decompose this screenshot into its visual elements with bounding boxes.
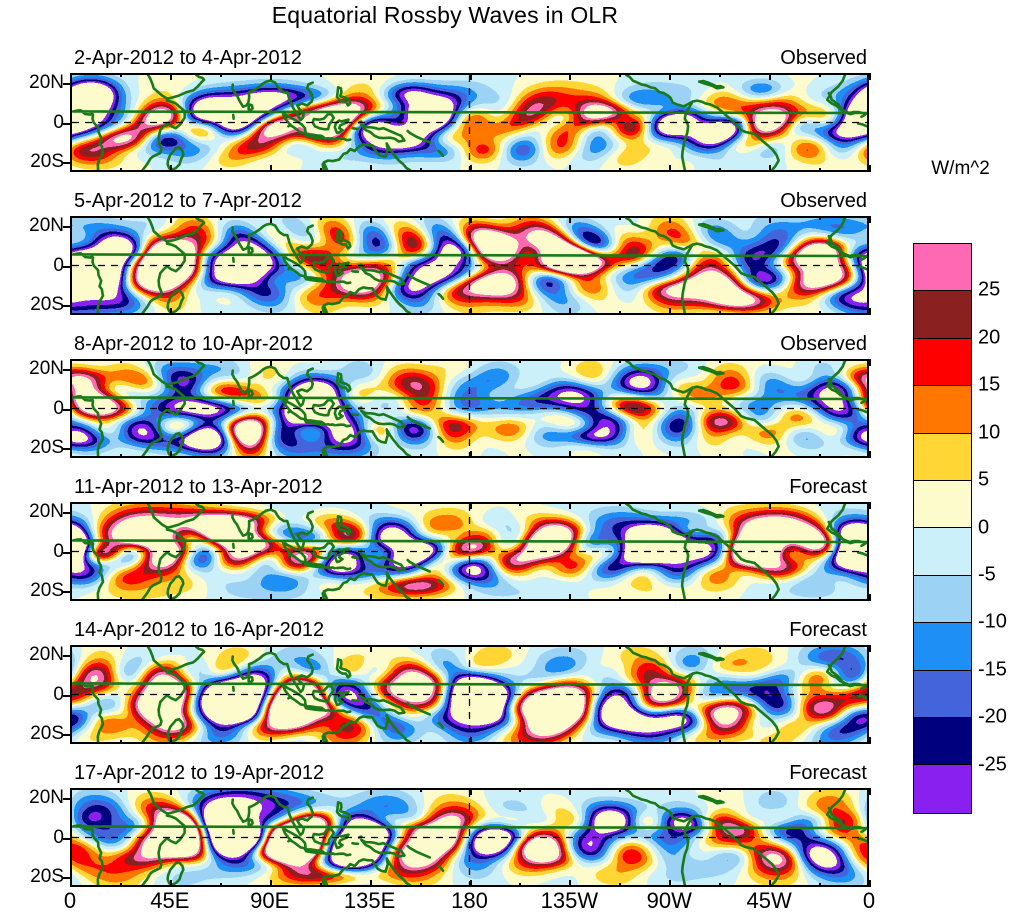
x-tick-mark xyxy=(519,216,521,220)
x-tick-mark xyxy=(70,216,72,223)
x-tick-mark xyxy=(719,359,721,363)
y-tick-mark xyxy=(63,877,70,879)
colorbar-band-8 xyxy=(914,576,971,623)
y-tick-label-p6-20S: 20S xyxy=(30,866,64,888)
x-tick-mark xyxy=(70,165,72,172)
panel-date-range-3: 8-Apr-2012 to 10-Apr-2012 xyxy=(74,333,313,356)
x-tick-mark xyxy=(619,597,621,601)
x-tick-mark xyxy=(370,788,372,795)
colorbar-band-3 xyxy=(914,339,971,386)
x-tick-mark xyxy=(669,451,671,458)
x-tick-mark xyxy=(719,311,721,315)
map-panel-4 xyxy=(70,502,869,601)
x-tick-mark xyxy=(719,73,721,77)
x-tick-mark xyxy=(470,594,472,601)
y-tick-mark xyxy=(63,512,70,514)
x-tick-mark xyxy=(470,737,472,744)
x-tick-mark xyxy=(569,216,571,223)
colorbar-band-9 xyxy=(914,623,971,670)
x-tick-mark xyxy=(470,359,472,366)
x-tick-mark xyxy=(120,645,122,649)
x-tick-mark xyxy=(170,645,172,652)
x-tick-mark xyxy=(370,880,372,887)
x-tick-mark xyxy=(519,359,521,363)
colorbar-band-4 xyxy=(914,386,971,433)
panel-date-range-2: 5-Apr-2012 to 7-Apr-2012 xyxy=(74,190,302,213)
panel-field-6 xyxy=(72,790,867,885)
x-tick-mark xyxy=(819,359,821,363)
x-tick-mark xyxy=(320,645,322,649)
x-tick-mark xyxy=(70,788,72,795)
y-tick-label-p4-20S: 20S xyxy=(30,580,64,602)
panel-header-4: 11-Apr-2012 to 13-Apr-2012Forecast xyxy=(70,476,869,500)
y-tick-mark xyxy=(63,591,70,593)
x-tick-mark xyxy=(869,737,871,744)
x-tick-mark xyxy=(370,359,372,366)
colorbar-tick--15: -15 xyxy=(978,658,1007,681)
x-tick-mark xyxy=(120,883,122,887)
x-tick-mark xyxy=(70,359,72,366)
panel-header-5: 14-Apr-2012 to 16-Apr-2012Forecast xyxy=(70,619,869,643)
x-tick-mark xyxy=(519,883,521,887)
y-tick-mark xyxy=(63,798,70,800)
x-tick-mark xyxy=(70,594,72,601)
panel-date-range-5: 14-Apr-2012 to 16-Apr-2012 xyxy=(74,619,324,642)
x-tick-mark xyxy=(420,645,422,649)
x-tick-mark xyxy=(270,880,272,887)
x-tick-mark xyxy=(320,502,322,506)
x-tick-mark xyxy=(70,880,72,887)
x-tick-mark xyxy=(519,788,521,792)
x-tick-mark xyxy=(320,216,322,220)
x-tick-mark xyxy=(819,216,821,220)
y-tick-label-p3-20N: 20N xyxy=(29,358,64,380)
x-tick-mark xyxy=(569,645,571,652)
x-tick-mark xyxy=(420,359,422,363)
y-tick-mark xyxy=(63,266,70,268)
panel-date-range-4: 11-Apr-2012 to 13-Apr-2012 xyxy=(74,476,323,499)
x-tick-mark xyxy=(270,645,272,652)
x-tick-mark xyxy=(470,880,472,887)
x-tick-mark xyxy=(170,308,172,315)
x-tick-mark xyxy=(320,740,322,744)
y-tick-label-p6-20N: 20N xyxy=(29,787,64,809)
x-tick-mark xyxy=(519,311,521,315)
colorbar-band-7 xyxy=(914,528,971,575)
x-tick-mark xyxy=(70,308,72,315)
x-tick-mark xyxy=(769,788,771,795)
x-tick-mark xyxy=(869,359,871,366)
colorbar-band-11 xyxy=(914,718,971,765)
x-tick-mark xyxy=(719,597,721,601)
panel-header-6: 17-Apr-2012 to 19-Apr-2012Forecast xyxy=(70,762,869,786)
x-tick-mark xyxy=(220,788,222,792)
x-tick-mark xyxy=(769,165,771,172)
y-tick-mark xyxy=(63,369,70,371)
colorbar-band-2 xyxy=(914,291,971,338)
x-tick-label-135W: 135W xyxy=(541,888,598,914)
x-tick-mark xyxy=(170,788,172,795)
colorbar xyxy=(913,243,972,814)
x-tick-mark xyxy=(819,645,821,649)
y-tick-label-p1-20S: 20S xyxy=(30,151,64,173)
x-tick-mark xyxy=(819,740,821,744)
x-tick-mark xyxy=(519,73,521,77)
x-tick-mark xyxy=(120,311,122,315)
panel-header-2: 5-Apr-2012 to 7-Apr-2012Observed xyxy=(70,190,869,214)
map-panel-1 xyxy=(70,73,869,172)
x-tick-mark xyxy=(769,451,771,458)
x-tick-mark xyxy=(370,451,372,458)
y-tick-label-p4-20N: 20N xyxy=(29,501,64,523)
y-tick-mark xyxy=(63,655,70,657)
colorbar-band-10 xyxy=(914,671,971,718)
colorbar-tick-20: 20 xyxy=(978,326,1000,349)
panel-kind-4: Forecast xyxy=(789,476,867,499)
panel-field-2 xyxy=(72,218,867,313)
x-tick-mark xyxy=(769,308,771,315)
x-tick-mark xyxy=(170,737,172,744)
x-tick-mark xyxy=(470,645,472,652)
x-tick-mark xyxy=(320,168,322,172)
x-tick-mark xyxy=(370,73,372,80)
x-tick-mark xyxy=(70,737,72,744)
x-tick-mark xyxy=(619,740,621,744)
x-tick-mark xyxy=(869,308,871,315)
x-tick-mark xyxy=(170,165,172,172)
x-tick-mark xyxy=(470,308,472,315)
y-tick-mark xyxy=(63,123,70,125)
y-tick-mark xyxy=(63,305,70,307)
x-tick-mark xyxy=(370,502,372,509)
x-tick-mark xyxy=(519,502,521,506)
x-tick-mark xyxy=(619,168,621,172)
panel-header-1: 2-Apr-2012 to 4-Apr-2012Observed xyxy=(70,47,869,71)
x-tick-mark xyxy=(220,359,222,363)
x-tick-mark xyxy=(120,454,122,458)
x-tick-mark xyxy=(120,73,122,77)
x-tick-mark xyxy=(120,359,122,363)
x-tick-mark xyxy=(170,594,172,601)
x-tick-mark xyxy=(719,454,721,458)
x-tick-mark xyxy=(719,788,721,792)
x-tick-mark xyxy=(669,502,671,509)
x-tick-mark xyxy=(519,597,521,601)
x-tick-mark xyxy=(270,451,272,458)
x-tick-mark xyxy=(270,165,272,172)
x-tick-mark xyxy=(769,737,771,744)
x-tick-mark xyxy=(120,740,122,744)
x-tick-mark xyxy=(769,359,771,366)
x-tick-mark xyxy=(819,883,821,887)
x-tick-mark xyxy=(420,597,422,601)
x-tick-mark xyxy=(220,216,222,220)
panel-kind-5: Forecast xyxy=(789,619,867,642)
x-tick-mark xyxy=(470,73,472,80)
x-tick-mark xyxy=(619,454,621,458)
x-tick-mark xyxy=(420,502,422,506)
y-tick-label-p2-20N: 20N xyxy=(29,215,64,237)
panel-field-5 xyxy=(72,647,867,742)
x-tick-mark xyxy=(669,73,671,80)
panel-field-1 xyxy=(72,75,867,170)
x-tick-mark xyxy=(669,737,671,744)
x-tick-mark xyxy=(120,788,122,792)
x-tick-mark xyxy=(170,451,172,458)
x-tick-mark xyxy=(619,645,621,649)
x-tick-mark xyxy=(569,502,571,509)
x-tick-mark xyxy=(719,216,721,220)
colorbar-units-label: W/m^2 xyxy=(900,158,1021,180)
x-tick-mark xyxy=(320,597,322,601)
x-tick-mark xyxy=(719,645,721,649)
x-tick-mark xyxy=(619,311,621,315)
panel-kind-6: Forecast xyxy=(789,762,867,785)
colorbar-tick-25: 25 xyxy=(978,279,1000,302)
x-tick-mark xyxy=(370,165,372,172)
x-tick-mark xyxy=(719,502,721,506)
x-tick-mark xyxy=(420,311,422,315)
x-tick-mark xyxy=(569,594,571,601)
x-tick-mark xyxy=(869,73,871,80)
x-tick-mark xyxy=(869,788,871,795)
x-tick-mark xyxy=(619,359,621,363)
x-tick-mark xyxy=(420,454,422,458)
x-tick-mark xyxy=(519,645,521,649)
y-tick-mark xyxy=(63,695,70,697)
x-tick-mark xyxy=(669,359,671,366)
x-tick-mark xyxy=(569,788,571,795)
x-tick-mark xyxy=(619,73,621,77)
x-tick-mark xyxy=(320,788,322,792)
x-tick-mark xyxy=(819,168,821,172)
x-tick-mark xyxy=(569,451,571,458)
x-tick-mark xyxy=(769,880,771,887)
figure-canvas: Equatorial Rossby Waves in OLR 2-Apr-201… xyxy=(0,0,1021,922)
x-tick-mark xyxy=(819,311,821,315)
x-tick-mark xyxy=(669,308,671,315)
x-tick-label-0: 0 xyxy=(863,888,875,914)
x-tick-mark xyxy=(220,454,222,458)
x-tick-mark xyxy=(70,73,72,80)
x-tick-mark xyxy=(270,502,272,509)
x-tick-mark xyxy=(519,168,521,172)
x-tick-label-0: 0 xyxy=(64,888,76,914)
x-tick-mark xyxy=(619,788,621,792)
panel-field-3 xyxy=(72,361,867,456)
x-tick-mark xyxy=(470,165,472,172)
x-tick-mark xyxy=(719,883,721,887)
x-tick-mark xyxy=(470,216,472,223)
x-tick-mark xyxy=(420,788,422,792)
y-tick-label-p1-20N: 20N xyxy=(29,72,64,94)
x-tick-mark xyxy=(220,73,222,77)
x-tick-mark xyxy=(270,788,272,795)
x-tick-mark xyxy=(370,308,372,315)
colorbar-tick-10: 10 xyxy=(978,421,1000,444)
x-tick-mark xyxy=(120,597,122,601)
x-tick-mark xyxy=(869,594,871,601)
y-tick-mark xyxy=(63,226,70,228)
y-tick-label-p5-20N: 20N xyxy=(29,644,64,666)
x-tick-mark xyxy=(170,502,172,509)
x-tick-mark xyxy=(220,502,222,506)
x-tick-mark xyxy=(120,216,122,220)
x-tick-mark xyxy=(719,168,721,172)
x-tick-mark xyxy=(519,740,521,744)
x-tick-mark xyxy=(869,451,871,458)
x-tick-mark xyxy=(869,880,871,887)
x-tick-mark xyxy=(819,73,821,77)
colorbar-tick--10: -10 xyxy=(978,611,1007,634)
x-tick-mark xyxy=(220,168,222,172)
x-tick-mark xyxy=(519,454,521,458)
x-tick-mark xyxy=(320,311,322,315)
x-tick-mark xyxy=(569,880,571,887)
x-tick-mark xyxy=(70,502,72,509)
x-tick-mark xyxy=(819,454,821,458)
x-tick-mark xyxy=(270,737,272,744)
map-panel-6 xyxy=(70,788,869,887)
colorbar-tick--25: -25 xyxy=(978,753,1007,776)
y-tick-mark xyxy=(63,448,70,450)
x-tick-mark xyxy=(869,216,871,223)
x-tick-mark xyxy=(220,740,222,744)
x-tick-mark xyxy=(769,216,771,223)
x-tick-mark xyxy=(270,216,272,223)
y-tick-label-p5-20S: 20S xyxy=(30,723,64,745)
x-tick-mark xyxy=(470,502,472,509)
panel-kind-1: Observed xyxy=(780,47,867,70)
x-tick-mark xyxy=(669,880,671,887)
colorbar-tick-5: 5 xyxy=(978,469,989,492)
x-tick-label-90E: 90E xyxy=(250,888,289,914)
y-tick-mark xyxy=(63,162,70,164)
x-tick-mark xyxy=(70,451,72,458)
panel-date-range-1: 2-Apr-2012 to 4-Apr-2012 xyxy=(74,47,302,70)
x-tick-mark xyxy=(320,454,322,458)
colorbar-tick--5: -5 xyxy=(978,563,996,586)
map-panel-2 xyxy=(70,216,869,315)
x-tick-mark xyxy=(819,788,821,792)
y-tick-mark xyxy=(63,552,70,554)
x-tick-mark xyxy=(170,73,172,80)
x-tick-mark xyxy=(819,502,821,506)
colorbar-band-1 xyxy=(914,244,971,291)
x-tick-mark xyxy=(270,308,272,315)
x-tick-mark xyxy=(220,597,222,601)
x-tick-label-90W: 90W xyxy=(647,888,692,914)
panel-date-range-6: 17-Apr-2012 to 19-Apr-2012 xyxy=(74,762,324,785)
x-tick-mark xyxy=(569,165,571,172)
colorbar-band-12 xyxy=(914,765,971,812)
colorbar-tick-15: 15 xyxy=(978,374,1000,397)
x-tick-mark xyxy=(170,359,172,366)
x-tick-mark xyxy=(420,168,422,172)
x-tick-mark xyxy=(869,645,871,652)
x-tick-mark xyxy=(619,502,621,506)
x-tick-label-180: 180 xyxy=(451,888,488,914)
x-tick-mark xyxy=(669,594,671,601)
x-tick-mark xyxy=(420,73,422,77)
x-tick-mark xyxy=(420,740,422,744)
x-tick-mark xyxy=(220,645,222,649)
x-tick-mark xyxy=(170,880,172,887)
x-tick-mark xyxy=(569,73,571,80)
colorbar-tick-0: 0 xyxy=(978,516,989,539)
map-panel-3 xyxy=(70,359,869,458)
x-tick-mark xyxy=(270,359,272,366)
x-tick-label-45W: 45W xyxy=(747,888,792,914)
x-tick-mark xyxy=(869,502,871,509)
x-tick-mark xyxy=(370,737,372,744)
panel-kind-3: Observed xyxy=(780,333,867,356)
x-tick-mark xyxy=(669,788,671,795)
colorbar-tick--20: -20 xyxy=(978,706,1007,729)
x-tick-mark xyxy=(120,168,122,172)
x-tick-mark xyxy=(220,883,222,887)
y-tick-mark xyxy=(63,83,70,85)
colorbar-band-6 xyxy=(914,481,971,528)
x-tick-mark xyxy=(470,451,472,458)
x-tick-mark xyxy=(270,594,272,601)
x-tick-mark xyxy=(420,216,422,220)
panel-header-3: 8-Apr-2012 to 10-Apr-2012Observed xyxy=(70,333,869,357)
x-tick-mark xyxy=(769,594,771,601)
x-tick-mark xyxy=(370,645,372,652)
y-tick-mark xyxy=(63,838,70,840)
x-tick-mark xyxy=(70,645,72,652)
x-tick-mark xyxy=(619,216,621,220)
x-tick-mark xyxy=(220,311,222,315)
figure-title: Equatorial Rossby Waves in OLR xyxy=(0,2,890,29)
y-tick-label-p3-20S: 20S xyxy=(30,437,64,459)
x-tick-mark xyxy=(320,883,322,887)
x-tick-mark xyxy=(619,883,621,887)
x-tick-mark xyxy=(569,737,571,744)
x-tick-mark xyxy=(120,502,122,506)
x-tick-mark xyxy=(569,308,571,315)
x-tick-mark xyxy=(569,359,571,366)
x-tick-mark xyxy=(370,216,372,223)
y-tick-mark xyxy=(63,409,70,411)
x-tick-mark xyxy=(719,740,721,744)
x-tick-mark xyxy=(669,216,671,223)
panel-field-4 xyxy=(72,504,867,599)
x-tick-mark xyxy=(769,73,771,80)
x-tick-label-135E: 135E xyxy=(344,888,395,914)
x-tick-mark xyxy=(819,597,821,601)
map-panel-5 xyxy=(70,645,869,744)
x-tick-mark xyxy=(669,165,671,172)
x-tick-mark xyxy=(370,594,372,601)
x-tick-mark xyxy=(320,73,322,77)
x-tick-mark xyxy=(769,645,771,652)
x-tick-mark xyxy=(669,645,671,652)
colorbar-band-5 xyxy=(914,434,971,481)
y-tick-mark xyxy=(63,734,70,736)
x-tick-mark xyxy=(270,73,272,80)
x-tick-mark xyxy=(320,359,322,363)
x-tick-mark xyxy=(470,788,472,795)
y-tick-label-p2-20S: 20S xyxy=(30,294,64,316)
x-tick-mark xyxy=(769,502,771,509)
x-tick-mark xyxy=(170,216,172,223)
panel-kind-2: Observed xyxy=(780,190,867,213)
x-tick-mark xyxy=(420,883,422,887)
x-tick-label-45E: 45E xyxy=(150,888,189,914)
x-tick-mark xyxy=(869,165,871,172)
